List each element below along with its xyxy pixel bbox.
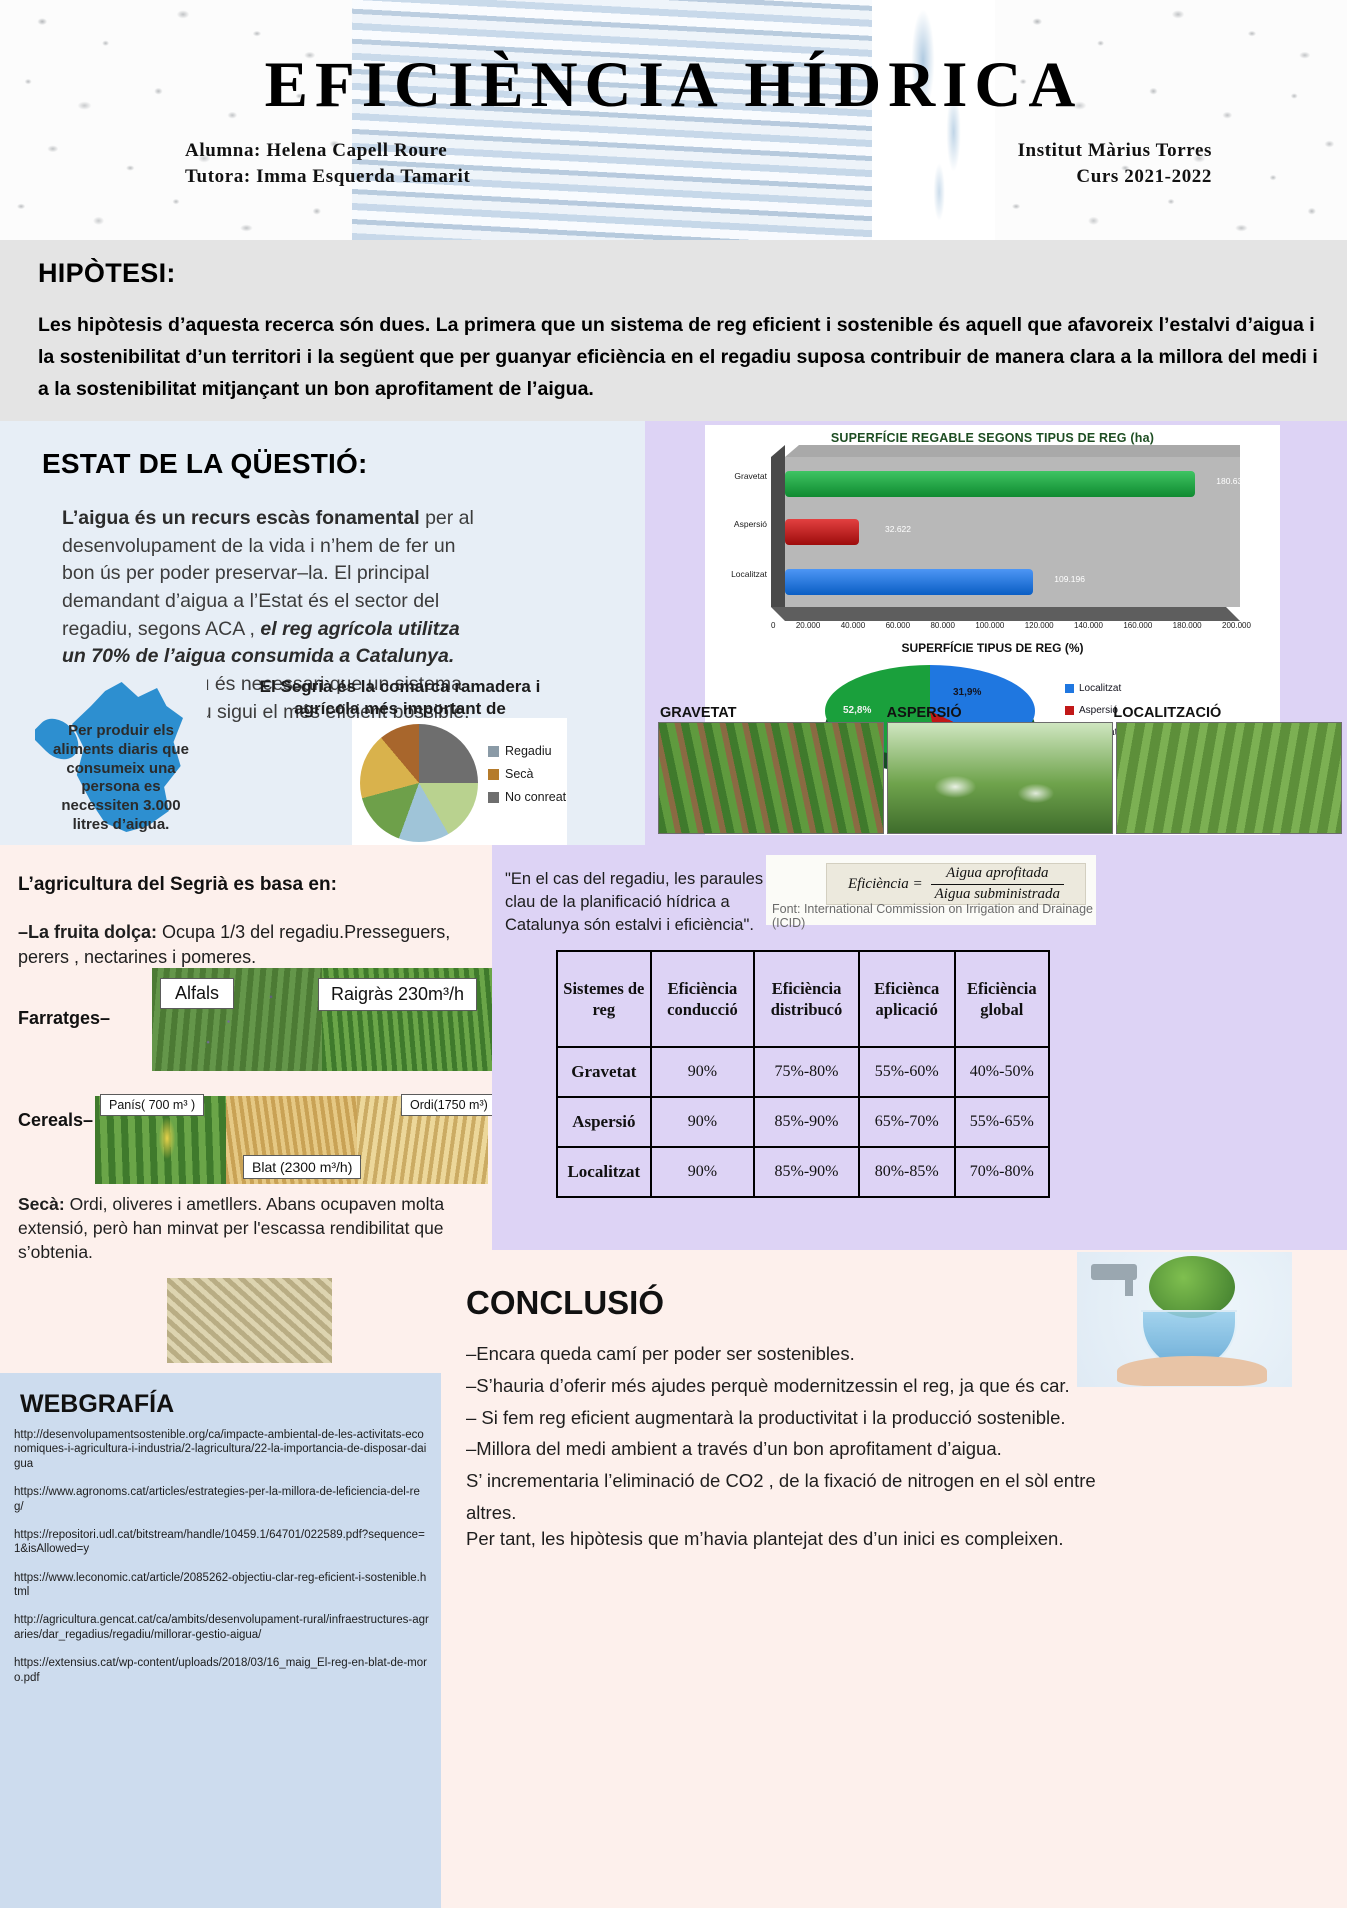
faucet-icon — [1091, 1264, 1137, 1280]
hand-icon — [1117, 1356, 1267, 1386]
conclusion-item: –Encara queda camí per poder ser sosteni… — [466, 1338, 1106, 1370]
legend-item: Secà — [488, 767, 566, 781]
col-header-global: Eficiència global — [955, 951, 1049, 1047]
x-tick: 180.000 — [1173, 621, 1202, 630]
conclusion-item: –S’hauria d’oferir més ajudes perquè mod… — [466, 1370, 1106, 1402]
irrigation-photo-strip — [658, 722, 1342, 834]
hypothesis-heading: HIPÒTESI: — [38, 258, 1327, 289]
cell-distribucio: 75%-80% — [754, 1047, 859, 1097]
legend-label: Localitzat — [1079, 683, 1121, 694]
water-consumption-infographic: Per produir els aliments diaris que cons… — [35, 676, 207, 834]
webgraphy-link[interactable]: https://www.leconomic.cat/article/208526… — [14, 1571, 429, 1600]
conclusion-list: –Encara queda camí per poder ser sosteni… — [466, 1338, 1106, 1529]
tree-canopy-icon — [1149, 1256, 1235, 1318]
tutor-name: Tutora: Imma Esquerda Tamarit — [185, 166, 470, 188]
webgraphy-link[interactable]: http://agricultura.gencat.cat/ca/ambits/… — [14, 1613, 429, 1642]
cell-conduccio: 90% — [651, 1097, 755, 1147]
conclusion-item: –Millora del medi ambient a través d’un … — [466, 1433, 1106, 1465]
formula-source-note: Font: International Commission on Irriga… — [772, 902, 1094, 930]
bar-label-aspersio: Aspersió — [697, 519, 767, 529]
hypothesis-body: Les hipòtesis d’aquesta recerca són dues… — [38, 309, 1318, 406]
legend-label: No conreat — [505, 790, 566, 804]
x-tick: 160.000 — [1123, 621, 1152, 630]
formula-denominator: Aigua subministrada — [931, 885, 1064, 904]
legend-swatch-regadiu — [488, 746, 499, 757]
dryland-label: Secà: — [18, 1194, 65, 1214]
bar-value-aspersio: 32.622 — [885, 524, 911, 534]
cell-system: Gravetat — [557, 1047, 651, 1097]
conclusion-closing: Per tant, les hipòtesis que m’havia plan… — [466, 1528, 1106, 1550]
cell-aplicacio: 55%-60% — [859, 1047, 955, 1097]
pie-chart-title: SUPERFÍCIE TIPUS DE REG (%) — [705, 641, 1280, 655]
table-row: Gravetat 90% 75%-80% 55%-60% 40%-50% — [557, 1047, 1049, 1097]
photo-label-gravetat: GRAVETAT — [660, 705, 887, 721]
col-header-sistemes: Sistemes de reg — [557, 951, 651, 1047]
webgraphy-link[interactable]: http://desenvolupamentsostenible.org/ca/… — [14, 1428, 429, 1471]
webgraphy-title: WEBGRAFÍA — [20, 1390, 174, 1419]
pie-value-localitzat: 31,9% — [953, 687, 981, 698]
x-tick: 80.000 — [930, 621, 954, 630]
bar-label-localitzat: Localitzat — [697, 569, 767, 579]
photo-label-aspersio: ASPERSIÓ — [887, 705, 1114, 721]
cereals-label: Cereals– — [18, 1110, 93, 1131]
legend-swatch-seca — [488, 769, 499, 780]
tag-panis: Panís( 700 m³ ) — [100, 1094, 204, 1116]
tag-blat: Blat (2300 m³/h) — [243, 1155, 361, 1179]
dryland-body: Ordi, oliveres i ametllers. Abans ocupav… — [18, 1194, 444, 1262]
cell-global: 55%-65% — [955, 1097, 1049, 1147]
tree-water-globe-image — [1077, 1252, 1292, 1387]
formula-label: Eficiència = — [848, 876, 923, 893]
cell-system: Localitzat — [557, 1147, 651, 1197]
cell-distribucio: 85%-90% — [754, 1097, 859, 1147]
efficiency-formula: Eficiència = Aigua aprofitada Aigua subm… — [826, 863, 1086, 905]
hypothesis-section: HIPÒTESI: Les hipòtesis d’aquesta recerc… — [0, 240, 1347, 421]
table-header-row: Sistemes de reg Eficiència conducció Efi… — [557, 951, 1049, 1047]
cell-conduccio: 90% — [651, 1047, 755, 1097]
dryland-text: Secà: Ordi, oliveres i ametllers. Abans … — [18, 1192, 473, 1264]
col-header-distribucio: Eficiència distribucó — [754, 951, 859, 1047]
legend-label: Regadiu — [505, 744, 552, 758]
cell-system: Aspersió — [557, 1097, 651, 1147]
legend-swatch-localitzat — [1065, 684, 1074, 693]
segria-pie-legend: Regadiu Secà No conreat — [488, 744, 566, 813]
table-row: Localitzat 90% 85%-90% 80%-85% 70%-80% — [557, 1147, 1049, 1197]
institute-name: Institut Màrius Torres — [1018, 140, 1212, 162]
legend-item: Localitzat — [1065, 683, 1121, 694]
photo-drip-irrigation — [1116, 722, 1342, 834]
agriculture-fruit-text: –La fruita dolça: Ocupa 1/3 del regadiu.… — [18, 920, 468, 970]
x-tick: 20.000 — [796, 621, 820, 630]
cell-global: 70%-80% — [955, 1147, 1049, 1197]
x-tick: 0 — [771, 621, 775, 630]
poster-header: EFICIÈNCIA HÍDRICA Alumna: Helena Capell… — [0, 0, 1347, 240]
x-tick: 100.000 — [975, 621, 1004, 630]
x-tick: 200.000 — [1222, 621, 1251, 630]
bar-value-gravetat: 180.630 — [1216, 476, 1247, 486]
x-tick: 120.000 — [1025, 621, 1054, 630]
academic-year: Curs 2021-2022 — [1076, 166, 1212, 188]
x-tick: 40.000 — [841, 621, 865, 630]
segria-pie-graphic — [360, 724, 478, 842]
author-name: Alumna: Helena Capell Roure — [185, 140, 447, 162]
page-title: EFICIÈNCIA HÍDRICA — [0, 48, 1347, 123]
webgraphy-link[interactable]: https://www.agronoms.cat/articles/estrat… — [14, 1485, 429, 1514]
water-consumption-caption: Per produir els aliments diaris que cons… — [45, 722, 197, 834]
cell-distribucio: 85%-90% — [754, 1147, 859, 1197]
conclusion-item: S’ incrementaria l’eliminació de CO2 , d… — [466, 1465, 1106, 1529]
agriculture-heading: L’agricultura del Segrià es basa en: — [18, 874, 337, 896]
col-header-conduccio: Eficiència conducció — [651, 951, 755, 1047]
cell-aplicacio: 65%-70% — [859, 1097, 955, 1147]
formula-numerator: Aigua aprofitada — [931, 865, 1064, 885]
bar-gravetat: Gravetat 180.630 — [785, 471, 1195, 497]
plot-top-edge — [785, 445, 1240, 457]
conclusion-item: – Si fem reg eficient augmentarà la prod… — [466, 1402, 1106, 1434]
cell-aplicacio: 80%-85% — [859, 1147, 955, 1197]
bar-value-localitzat: 109.196 — [1054, 574, 1085, 584]
bar-chart-x-axis: 0 20.000 40.000 60.000 80.000 100.000 12… — [771, 621, 1251, 630]
bar-aspersio: Aspersió 32.622 — [785, 519, 859, 545]
state-of-question-heading: ESTAT DE LA QÜESTIÓ: — [42, 448, 367, 480]
legend-label: Secà — [505, 767, 534, 781]
bar-label-gravetat: Gravetat — [697, 471, 767, 481]
forage-label: Farratges– — [18, 1008, 110, 1029]
fruit-label: –La fruita dolça: — [18, 922, 157, 942]
efficiency-quote: "En el cas del regadiu, les paraules cla… — [505, 868, 775, 936]
conclusion-title: CONCLUSIÓ — [466, 1284, 664, 1322]
legend-swatch-no-conreat — [488, 792, 499, 803]
photo-gravity-irrigation — [658, 722, 884, 834]
x-tick: 60.000 — [886, 621, 910, 630]
col-header-aplicacio: Eficiènca aplicació — [859, 951, 955, 1047]
legend-item: Regadiu — [488, 744, 566, 758]
bar-localitzat: Localitzat 109.196 — [785, 569, 1033, 595]
photo-sprinkler-irrigation — [887, 722, 1113, 834]
photo-label-localitzacio: LOCALITZACIÓ — [1113, 705, 1340, 721]
formula-fraction: Aigua aprofitada Aigua subministrada — [931, 865, 1064, 903]
state-lead-text: L’aigua és un recurs escàs fonamental — [62, 507, 420, 529]
segria-land-use-chart: Regadiu Secà No conreat — [352, 718, 567, 848]
tag-ordi: Ordi(1750 m³) — [401, 1094, 497, 1116]
bar-chart-title: SUPERFÍCIE REGABLE SEGONS TIPUS DE REG (… — [705, 431, 1280, 445]
x-tick: 140.000 — [1074, 621, 1103, 630]
efficiency-table: Sistemes de reg Eficiència conducció Efi… — [556, 950, 1050, 1198]
tag-alfals: Alfals — [160, 978, 234, 1009]
webgraphy-links: http://desenvolupamentsostenible.org/ca/… — [14, 1428, 429, 1699]
irrigation-photo-labels: GRAVETAT ASPERSIÓ LOCALITZACIÓ — [660, 705, 1340, 721]
bar-chart-plot-area: Gravetat 180.630 Aspersió 32.622 Localit… — [785, 457, 1240, 607]
legend-item: No conreat — [488, 790, 566, 804]
tag-raigras: Raigràs 230m³/h — [318, 978, 477, 1011]
webgraphy-link[interactable]: https://extensius.cat/wp-content/uploads… — [14, 1656, 429, 1685]
table-row: Aspersió 90% 85%-90% 65%-70% 55%-65% — [557, 1097, 1049, 1147]
cell-global: 40%-50% — [955, 1047, 1049, 1097]
webgraphy-link[interactable]: https://repositori.udl.cat/bitstream/han… — [14, 1528, 429, 1557]
cell-conduccio: 90% — [651, 1147, 755, 1197]
photo-olive-grove — [167, 1278, 332, 1363]
